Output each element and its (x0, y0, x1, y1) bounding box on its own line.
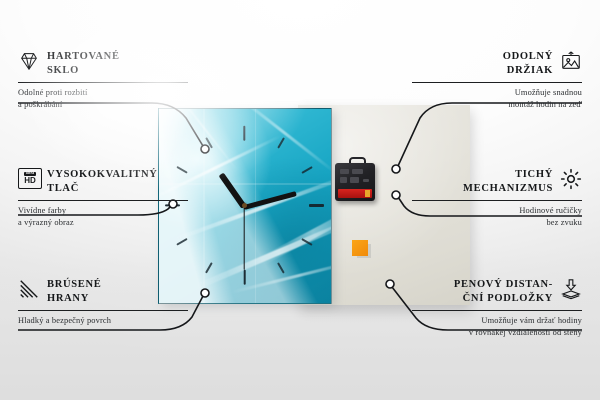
feature-title: BRÚSENÉ HRANY (47, 278, 102, 306)
divider (18, 200, 188, 201)
feature-desc: Umožňuje vám držať hodiny v rovnakej vzd… (412, 315, 582, 339)
feature-title: ODOLNÝ DRŽIAK (503, 50, 553, 78)
feature-desc: Hodinové ručičky bez zvuku (412, 205, 582, 229)
divider (18, 82, 188, 83)
infographic-canvas: HARTOVANÉ SKLO Odolné proti rozbití a po… (0, 0, 600, 400)
ultra-hd-icon: ultra HD (18, 168, 40, 190)
hand-cap (242, 203, 247, 208)
second-hand (243, 206, 244, 270)
battery (338, 189, 372, 198)
hour-marker (243, 270, 245, 285)
foam-spacer-pad (352, 240, 368, 256)
feature-high-quality-print: ultra HD VYSOKOKVALITNÝ TLAČ Vivídne far… (18, 168, 188, 229)
arrow-onto-layers-icon (560, 278, 582, 300)
hour-marker (309, 204, 324, 206)
feature-foam-spacers: PENOVÝ DISTAN- ČNÍ PODLOŽKY Umožňuje vám… (412, 278, 582, 339)
hour-marker (205, 262, 213, 273)
diamond-icon (18, 50, 40, 72)
feature-silent-mechanism: TICHÝ MECHANIZMUS Hodinové ručičky bez z… (412, 168, 582, 229)
divider (412, 82, 582, 83)
hd-label: HD (24, 177, 36, 185)
hour-marker (277, 262, 285, 273)
feature-title: TICHÝ MECHANIZMUS (463, 168, 553, 196)
feature-desc: Vivídne farby a výrazný obraz (18, 205, 188, 229)
divider (18, 310, 188, 311)
diagonal-lines-icon (18, 278, 40, 300)
hour-marker (243, 126, 245, 141)
divider (412, 200, 582, 201)
feature-desc: Hladký a bezpečný povrch (18, 315, 188, 327)
gear-icon (560, 168, 582, 190)
feature-desc: Umožňuje snadnou montáž hodin na zeď (412, 87, 582, 111)
feature-desc: Odolné proti rozbití a poškrábání (18, 87, 188, 111)
feature-durable-holder: ODOLNÝ DRŽIAK Umožňuje snadnou montáž ho… (412, 50, 582, 111)
quartz-movement (335, 163, 375, 201)
picture-frame-icon (560, 50, 582, 72)
hour-marker (301, 166, 312, 174)
feature-title: VYSOKOKVALITNÝ TLAČ (47, 168, 158, 196)
feature-ground-edges: BRÚSENÉ HRANY Hladký a bezpečný povrch (18, 278, 188, 327)
movement-body (335, 163, 375, 201)
feature-title: PENOVÝ DISTAN- ČNÍ PODLOŽKY (454, 278, 553, 306)
divider (412, 310, 582, 311)
feature-title: HARTOVANÉ SKLO (47, 50, 120, 78)
feature-tempered-glass: HARTOVANÉ SKLO Odolné proti rozbití a po… (18, 50, 188, 111)
hour-marker (277, 137, 285, 148)
